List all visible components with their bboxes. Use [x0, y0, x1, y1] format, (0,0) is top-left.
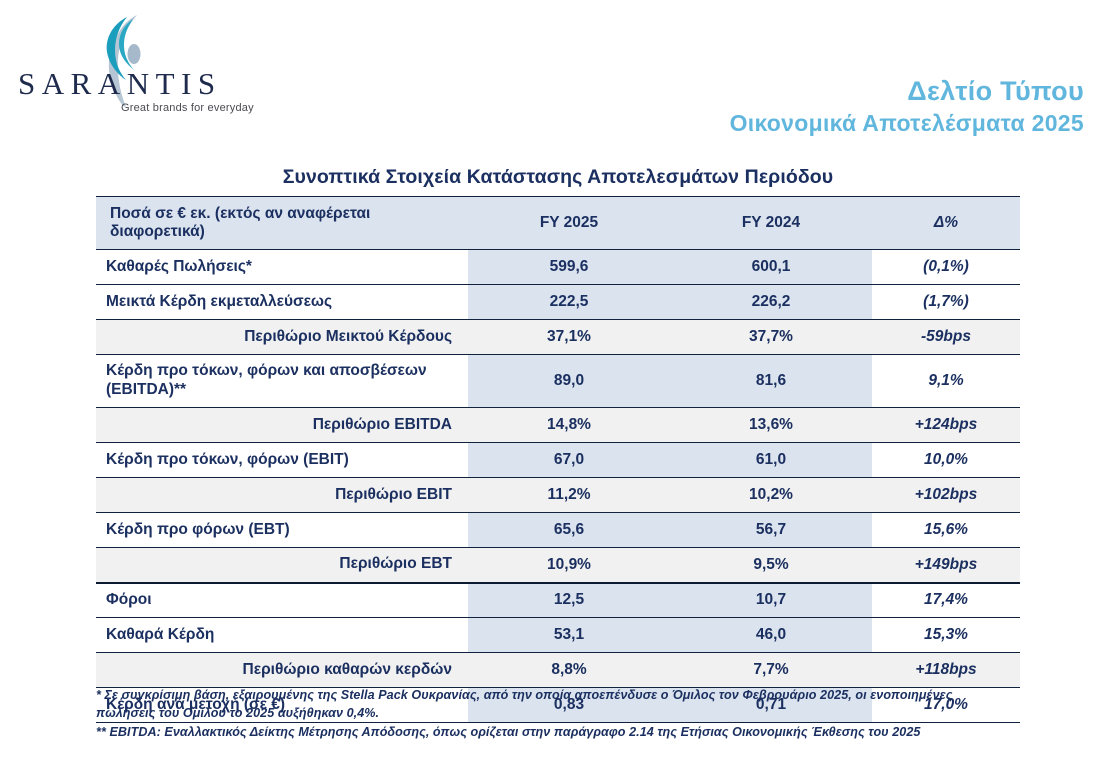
row-delta: (1,7%)	[872, 285, 1020, 320]
row-fy2025: 12,5	[468, 583, 670, 618]
footnote-line-3: ** EBITDA: Εναλλακτικός Δείκτης Μέτρησης…	[96, 723, 1036, 741]
table-row: Κέρδη προ τόκων, φόρων και αποσβέσεων (E…	[96, 355, 1020, 408]
sarantis-logo: SARANTIS Great brands for everyday	[18, 14, 238, 114]
row-fy2024: 13,6%	[670, 408, 872, 443]
financial-summary-table: Ποσά σε € εκ. (εκτός αν αναφέρεται διαφο…	[96, 196, 1020, 723]
row-fy2024: 81,6	[670, 355, 872, 408]
row-delta: (0,1%)	[872, 250, 1020, 285]
row-fy2024: 10,7	[670, 583, 872, 618]
row-fy2024: 56,7	[670, 513, 872, 548]
row-label: Κέρδη προ τόκων, φόρων (EBIT)	[96, 443, 468, 478]
table-body: Καθαρές Πωλήσεις* 599,6 600,1 (0,1%) Μει…	[96, 250, 1020, 723]
table-row: Περιθώριο EBT 10,9% 9,5% +149bps	[96, 548, 1020, 583]
row-fy2025: 37,1%	[468, 320, 670, 355]
table-row: Καθαρά Κέρδη 53,1 46,0 15,3%	[96, 618, 1020, 653]
table-row: Περιθώριο EBITDA 14,8% 13,6% +124bps	[96, 408, 1020, 443]
row-fy2025: 67,0	[468, 443, 670, 478]
row-fy2025: 8,8%	[468, 653, 670, 688]
row-fy2024: 9,5%	[670, 548, 872, 583]
row-fy2024: 226,2	[670, 285, 872, 320]
row-delta: 15,6%	[872, 513, 1020, 548]
press-release-title: Δελτίο Τύπου	[907, 76, 1084, 107]
row-label: Κέρδη προ φόρων (EBT)	[96, 513, 468, 548]
row-fy2025: 53,1	[468, 618, 670, 653]
row-label: Κέρδη προ τόκων, φόρων και αποσβέσεων (E…	[96, 355, 468, 408]
logo-wordmark: SARANTIS	[18, 66, 222, 102]
table-row: Περιθώριο Μεικτού Κέρδους 37,1% 37,7% -5…	[96, 320, 1020, 355]
row-delta: 15,3%	[872, 618, 1020, 653]
row-label: Φόροι	[96, 583, 468, 618]
row-delta: 17,4%	[872, 583, 1020, 618]
row-label: Καθαρά Κέρδη	[96, 618, 468, 653]
row-fy2025: 89,0	[468, 355, 670, 408]
table-title: Συνοπτικά Στοιχεία Κατάστασης Αποτελεσμά…	[96, 166, 1020, 196]
row-label: Περιθώριο καθαρών κερδών	[96, 653, 468, 688]
page-header: SARANTIS Great brands for everyday Δελτί…	[0, 0, 1112, 152]
row-fy2024: 600,1	[670, 250, 872, 285]
press-release-subtitle: Οικονομικά Αποτελέσματα 2025	[730, 110, 1084, 137]
table-row: Περιθώριο EBIT 11,2% 10,2% +102bps	[96, 478, 1020, 513]
table-header-row: Ποσά σε € εκ. (εκτός αν αναφέρεται διαφο…	[96, 197, 1020, 250]
table-row: Κέρδη προ φόρων (EBT) 65,6 56,7 15,6%	[96, 513, 1020, 548]
row-label: Περιθώριο EBIT	[96, 478, 468, 513]
row-fy2024: 37,7%	[670, 320, 872, 355]
table-row: Κέρδη προ τόκων, φόρων (EBIT) 67,0 61,0 …	[96, 443, 1020, 478]
row-fy2025: 14,8%	[468, 408, 670, 443]
row-fy2025: 65,6	[468, 513, 670, 548]
column-header-fy2024: FY 2024	[670, 197, 872, 250]
row-fy2024: 61,0	[670, 443, 872, 478]
table-row: Καθαρές Πωλήσεις* 599,6 600,1 (0,1%)	[96, 250, 1020, 285]
row-fy2024: 46,0	[670, 618, 872, 653]
footnote-line-2: πωλήσεις του Ομίλου το 2025 αυξήθηκαν 0,…	[96, 704, 1036, 722]
row-delta: +118bps	[872, 653, 1020, 688]
row-fy2024: 10,2%	[670, 478, 872, 513]
press-release-page: SARANTIS Great brands for everyday Δελτί…	[0, 0, 1112, 770]
row-delta: +102bps	[872, 478, 1020, 513]
row-fy2025: 599,6	[468, 250, 670, 285]
logo-tagline: Great brands for everyday	[121, 102, 254, 114]
row-label: Μεικτά Κέρδη εκμεταλλεύσεως	[96, 285, 468, 320]
column-header-amounts: Ποσά σε € εκ. (εκτός αν αναφέρεται διαφο…	[96, 197, 468, 250]
row-label: Περιθώριο EBITDA	[96, 408, 468, 443]
footnote-line-1: * Σε συγκρίσιμη βάση, εξαιρουμένης της S…	[96, 686, 1036, 704]
footnotes: * Σε συγκρίσιμη βάση, εξαιρουμένης της S…	[96, 686, 1036, 741]
row-label: Περιθώριο EBT	[96, 548, 468, 583]
financial-summary-section: Συνοπτικά Στοιχεία Κατάστασης Αποτελεσμά…	[96, 166, 1020, 723]
row-delta: +124bps	[872, 408, 1020, 443]
table-row: Περιθώριο καθαρών κερδών 8,8% 7,7% +118b…	[96, 653, 1020, 688]
row-delta: 9,1%	[872, 355, 1020, 408]
column-header-delta: Δ%	[872, 197, 1020, 250]
row-label: Περιθώριο Μεικτού Κέρδους	[96, 320, 468, 355]
row-fy2025: 222,5	[468, 285, 670, 320]
row-fy2025: 10,9%	[468, 548, 670, 583]
row-delta: -59bps	[872, 320, 1020, 355]
table-row: Φόροι 12,5 10,7 17,4%	[96, 583, 1020, 618]
row-fy2024: 7,7%	[670, 653, 872, 688]
table-row: Μεικτά Κέρδη εκμεταλλεύσεως 222,5 226,2 …	[96, 285, 1020, 320]
row-fy2025: 11,2%	[468, 478, 670, 513]
row-delta: +149bps	[872, 548, 1020, 583]
row-delta: 10,0%	[872, 443, 1020, 478]
column-header-fy2025: FY 2025	[468, 197, 670, 250]
row-label: Καθαρές Πωλήσεις*	[96, 250, 468, 285]
